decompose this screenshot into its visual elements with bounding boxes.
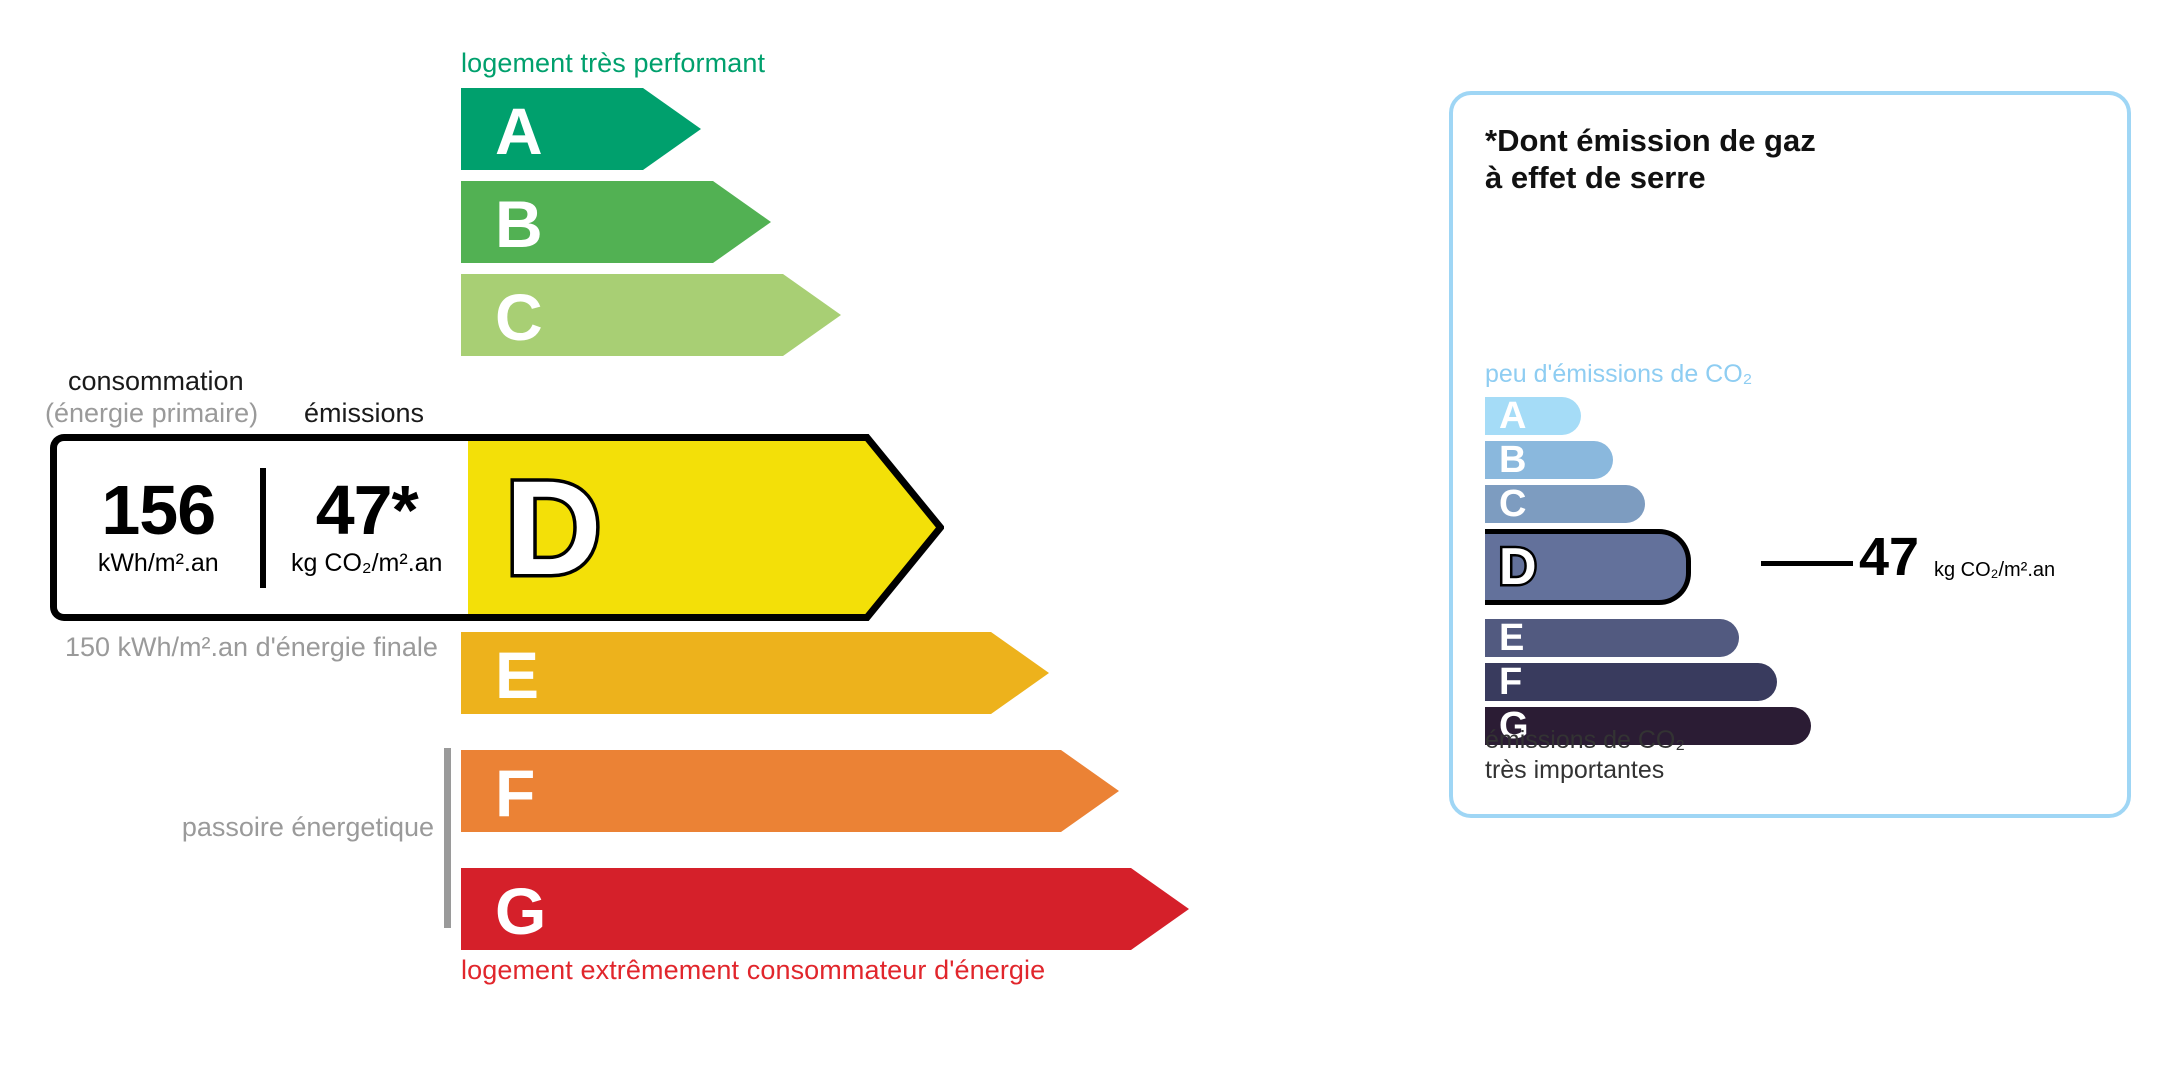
value-box: 156 kWh/m².an 47* kg CO₂/m².an <box>50 434 468 621</box>
arrow-shape-a: A <box>461 88 701 170</box>
co2-bar-a: A <box>1485 397 1581 435</box>
arrow-shape-d: D <box>461 434 944 621</box>
label-emissions: émissions <box>304 398 424 429</box>
co2-bar-e: E <box>1485 619 1739 657</box>
co2-bar-f: F <box>1485 663 1777 701</box>
co2-value-unit: kg CO₂/m².an <box>1934 559 2055 582</box>
consumption-unit: kWh/m².an <box>57 549 260 578</box>
energy-class-d: D <box>461 434 944 621</box>
co2-letter-d: D <box>1499 541 1537 593</box>
svg-text:G: G <box>495 874 546 948</box>
co2-letter-b: B <box>1499 441 1526 479</box>
dpe-label: logement très performant ABCDEFG 156 kWh… <box>0 0 2169 1079</box>
co2-class-f: F <box>1485 663 1777 701</box>
svg-text:C: C <box>495 280 543 354</box>
svg-text:B: B <box>495 187 543 261</box>
co2-top-caption: peu d'émissions de CO₂ <box>1485 360 1752 389</box>
svg-text:A: A <box>495 94 543 168</box>
arrow-shape-b: B <box>461 181 771 263</box>
consumption-value: 156 <box>57 477 260 544</box>
energy-class-a: A <box>461 88 701 170</box>
co2-bar-b: B <box>1485 441 1613 479</box>
co2-letter-f: F <box>1499 663 1522 701</box>
energy-bottom-caption: logement extrêmement consommateur d'éner… <box>461 955 1045 986</box>
co2-bar-d: D <box>1485 529 1691 605</box>
label-energie-primaire: (énergie primaire) <box>45 398 258 429</box>
co2-bottom-caption: émissions de CO₂ très importantes <box>1485 725 1685 785</box>
emission-unit: kg CO₂/m².an <box>266 549 469 578</box>
co2-leader-line <box>1761 561 1853 566</box>
co2-class-d: D <box>1485 529 1691 605</box>
arrow-shape-g: G <box>461 868 1189 950</box>
passoire-indicator-bar <box>444 748 451 928</box>
co2-class-b: B <box>1485 441 1613 479</box>
label-energie-finale: 150 kWh/m².an d'énergie finale <box>65 632 438 664</box>
co2-value: 47 <box>1859 530 1919 584</box>
emission-cell: 47* kg CO₂/m².an <box>266 477 469 579</box>
energy-class-g: G <box>461 868 1189 950</box>
co2-panel-title: *Dont émission de gaz à effet de serre <box>1485 122 1816 196</box>
co2-class-e: E <box>1485 619 1739 657</box>
energy-class-b: B <box>461 181 771 263</box>
co2-letter-c: C <box>1499 485 1526 523</box>
emission-value: 47* <box>266 477 469 544</box>
energy-class-e: E <box>461 632 1049 714</box>
energy-top-caption: logement très performant <box>461 48 765 79</box>
svg-text:F: F <box>495 756 535 830</box>
consumption-cell: 156 kWh/m².an <box>57 477 260 579</box>
arrow-shape-c: C <box>461 274 841 356</box>
arrow-shape-f: F <box>461 750 1119 832</box>
svg-text:D: D <box>505 454 602 603</box>
energy-scale-panel: logement très performant ABCDEFG 156 kWh… <box>0 0 1400 1079</box>
co2-bar-c: C <box>1485 485 1645 523</box>
co2-letter-a: A <box>1499 397 1526 435</box>
co2-panel: *Dont émission de gaz à effet de serre p… <box>1449 91 2131 818</box>
energy-class-c: C <box>461 274 841 356</box>
co2-letter-e: E <box>1499 619 1524 657</box>
co2-class-a: A <box>1485 397 1581 435</box>
arrow-shape-e: E <box>461 632 1049 714</box>
energy-class-f: F <box>461 750 1119 832</box>
co2-class-c: C <box>1485 485 1645 523</box>
label-passoire-energetique: passoire énergetique <box>178 812 434 844</box>
svg-text:E: E <box>495 638 539 712</box>
label-consommation: consommation <box>68 366 244 397</box>
